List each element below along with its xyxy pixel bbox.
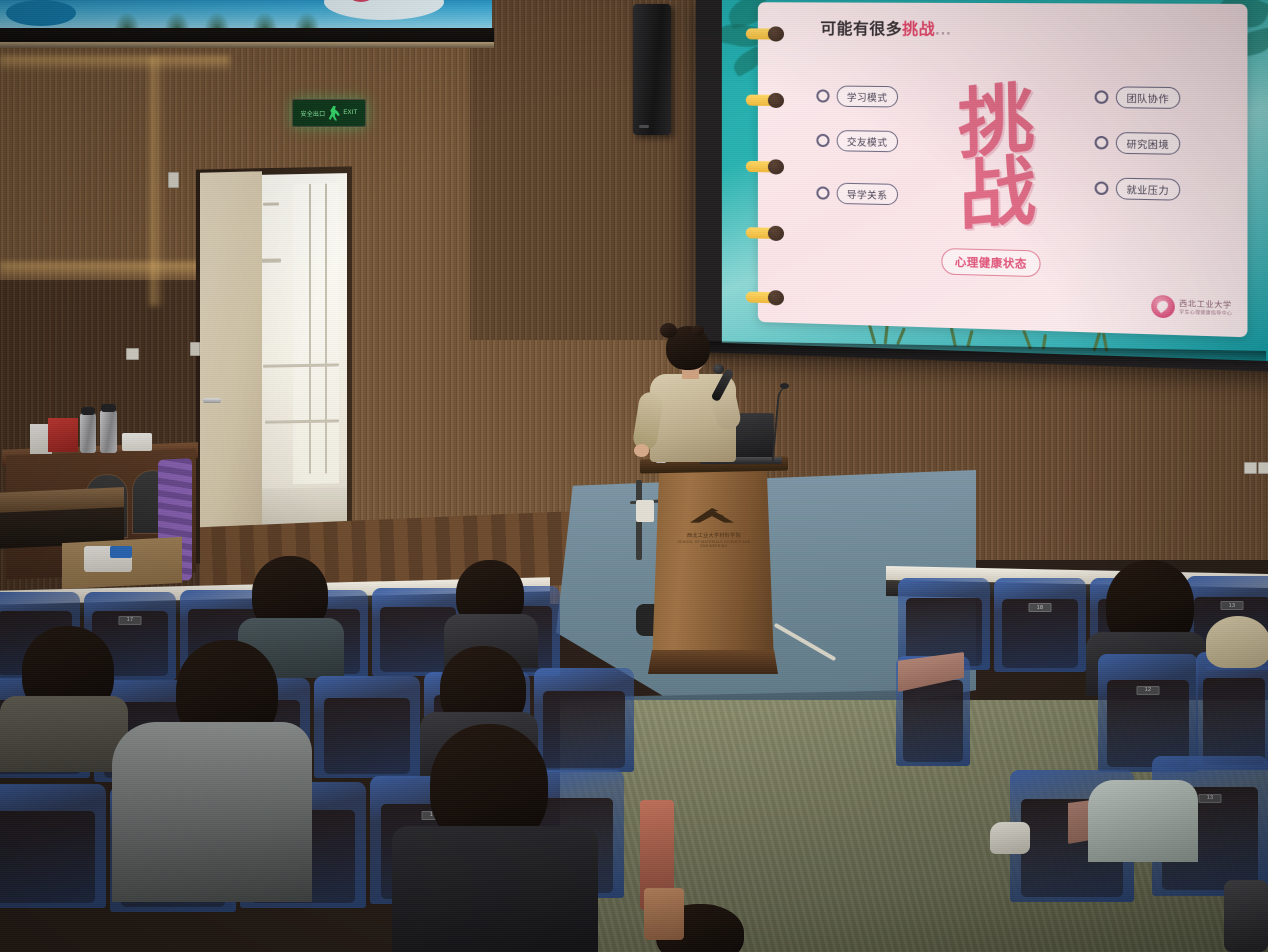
microphone-head-icon	[713, 364, 724, 374]
binder-disc-icon	[768, 290, 784, 306]
slide-right-item-1: 研究困境	[1095, 132, 1180, 155]
bullet-circle-icon	[1095, 90, 1109, 104]
presenter-hand	[634, 444, 649, 457]
emergency-exit-sign: 安全出口 EXIT	[292, 99, 366, 127]
wall-uplight-glow-bottom	[0, 262, 200, 280]
seat[interactable]: 12	[1098, 654, 1198, 772]
slide-right-label-0: 团队协作	[1116, 86, 1180, 109]
slide-right-item-0: 团队协作	[1095, 86, 1180, 109]
power-strip	[636, 500, 654, 522]
presenter	[630, 326, 750, 471]
presenter-hair-bun	[660, 323, 677, 338]
slide-title: 可能有很多挑战...	[820, 17, 951, 40]
audience-torso	[1088, 780, 1198, 862]
slide-left-label-1: 交友模式	[837, 130, 898, 152]
audience-cap-icon	[1206, 616, 1268, 668]
slide-left-label-2: 导学关系	[837, 183, 898, 206]
exit-sign-label-en: EXIT	[343, 110, 357, 116]
thermos-flask	[80, 413, 96, 453]
wall-speaker-icon	[633, 4, 671, 135]
audience-shoe	[990, 822, 1030, 854]
red-bag	[48, 418, 78, 452]
projection-screen: 可能有很多挑战... 挑战 学习模式 交友模式 导学关系	[696, 0, 1268, 372]
bullet-circle-icon	[1095, 136, 1109, 150]
binder-ring-3	[746, 225, 792, 241]
secondary-display-shelf	[0, 42, 494, 48]
slide-calligraphy-art: 挑战	[957, 75, 1106, 225]
slide-left-item-2: 导学关系	[816, 182, 897, 205]
slide-title-highlight: 挑战	[902, 21, 935, 39]
seat[interactable]	[534, 668, 634, 772]
presenter-hair-bun	[692, 325, 704, 336]
heart-logo-icon	[1151, 295, 1175, 319]
binder-disc-icon	[768, 226, 784, 241]
slide-right-label-1: 研究困境	[1116, 132, 1180, 155]
lecture-hall-photo: 安全出口 EXIT 可能有很多挑战...	[0, 0, 1268, 952]
seat-number: 13	[1199, 794, 1222, 803]
door-handle[interactable]	[203, 398, 221, 403]
audience-torso	[0, 696, 128, 772]
slide-canvas: 可能有很多挑战... 挑战 学习模式 交友模式 导学关系	[722, 0, 1268, 361]
seat-number: 12	[1137, 686, 1160, 695]
seat-number: 13	[1221, 601, 1244, 610]
fire-alarm-icon	[168, 172, 179, 188]
exit-sign-label-cn: 安全出口	[301, 109, 326, 118]
upper-wall-dark	[470, 0, 710, 340]
audience-torso	[112, 722, 312, 902]
podium-mountain-logo-icon	[688, 508, 736, 532]
slide-bottom-item: 心理健康状态	[941, 248, 1040, 277]
bullet-circle-icon	[816, 186, 829, 199]
slide-title-ellipsis: ...	[935, 21, 951, 38]
box-contents-blue	[110, 546, 132, 558]
wall-outlet[interactable]	[1258, 462, 1268, 474]
seat[interactable]	[314, 676, 420, 778]
lectern-podium	[652, 466, 774, 664]
slide-left-label-0: 学习模式	[837, 85, 898, 107]
tissue-box	[122, 433, 152, 451]
seat-number: 17	[119, 616, 142, 625]
audience-item-folder	[644, 888, 684, 940]
podium-org-subtext: SCHOOL OF MATERIALS SCIENCE AND ENGINEER…	[676, 540, 752, 548]
audience-bag	[1224, 880, 1268, 952]
secondary-display-cropped	[0, 0, 492, 30]
binder-disc-icon	[768, 159, 784, 174]
podium-base	[648, 650, 778, 674]
slide-right-label-2: 就业压力	[1116, 178, 1180, 201]
seat[interactable]: 18	[994, 578, 1086, 672]
running-person-icon	[328, 106, 340, 121]
open-door[interactable]	[200, 171, 262, 557]
thermos-flask	[100, 410, 117, 453]
binder-ring-2	[746, 159, 792, 175]
seat[interactable]	[1196, 652, 1268, 770]
wall-uplight-glow-top	[0, 56, 230, 72]
slide-org-dept: 学生心理健康指导中心	[1179, 309, 1232, 316]
audience-torso	[392, 826, 598, 952]
bullet-circle-icon	[816, 134, 829, 147]
podium-org-text: 西北工业大学材料学院	[676, 532, 752, 539]
microphone-head-icon	[780, 383, 789, 389]
binder-ring-4	[746, 289, 792, 305]
slide-org-logo: 西北工业大学 学生心理健康指导中心	[1151, 295, 1232, 320]
seat[interactable]	[0, 784, 106, 908]
bullet-circle-icon	[1095, 181, 1109, 195]
binder-disc-icon	[768, 93, 784, 108]
slide-left-item-0: 学习模式	[816, 85, 897, 107]
wall-sensor-icon	[190, 342, 200, 356]
slide-right-item-2: 就业压力	[1095, 177, 1180, 200]
slide-notebook-page: 可能有很多挑战... 挑战 学习模式 交友模式 导学关系	[758, 2, 1248, 337]
binder-ring-1	[746, 93, 792, 109]
binder-disc-icon	[768, 26, 784, 41]
wall-outlet[interactable]	[126, 348, 139, 360]
bullet-circle-icon	[816, 89, 829, 102]
seat-number: 18	[1029, 603, 1052, 612]
slide-title-plain: 可能有很多	[820, 21, 902, 39]
binder-ring-0	[746, 26, 792, 41]
slide-left-item-1: 交友模式	[816, 130, 897, 153]
wall-outlet[interactable]	[1244, 462, 1257, 474]
